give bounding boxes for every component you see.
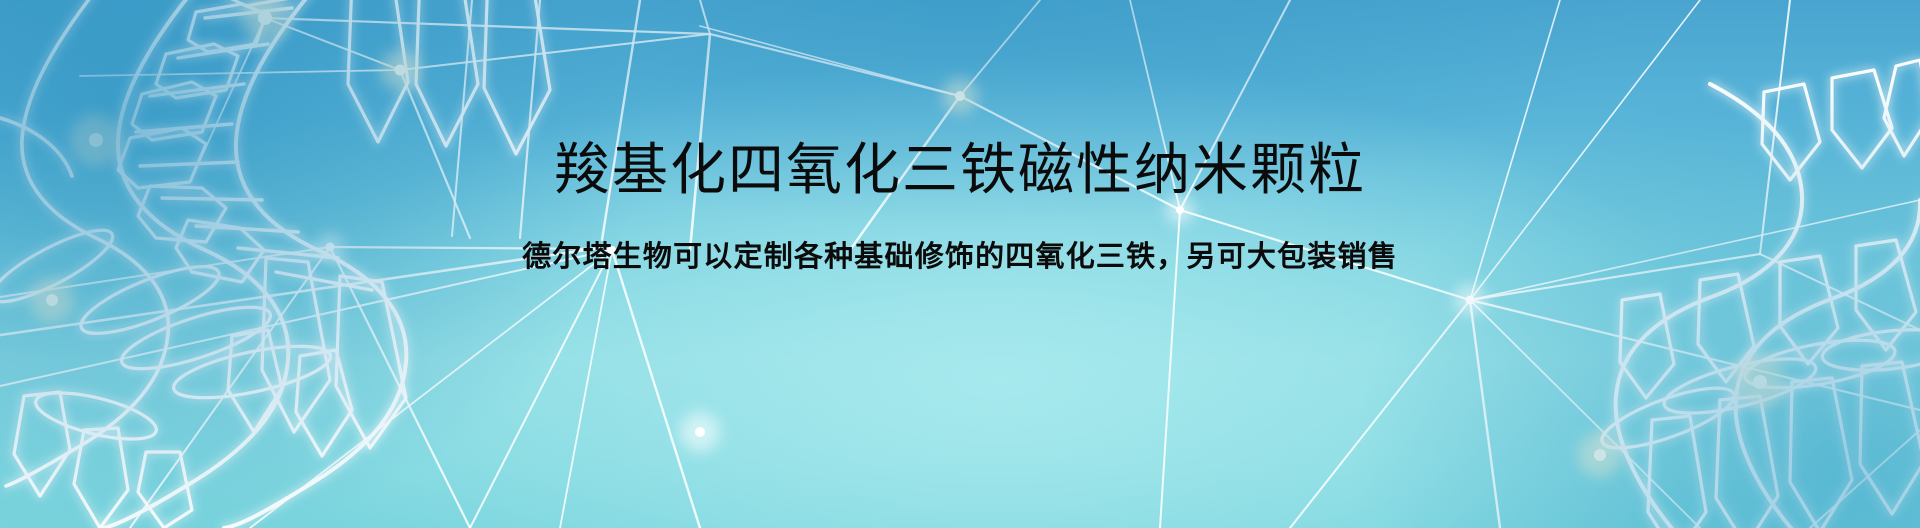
- product-banner: 羧基化四氧化三铁磁性纳米颗粒 德尔塔生物可以定制各种基础修饰的四氧化三铁，另可大…: [0, 0, 1920, 528]
- banner-subtitle: 德尔塔生物可以定制各种基础修饰的四氧化三铁，另可大包装销售: [522, 233, 1398, 275]
- banner-text-block: 羧基化四氧化三铁磁性纳米颗粒 德尔塔生物可以定制各种基础修饰的四氧化三铁，另可大…: [0, 0, 1920, 528]
- banner-title: 羧基化四氧化三铁磁性纳米颗粒: [554, 140, 1366, 199]
